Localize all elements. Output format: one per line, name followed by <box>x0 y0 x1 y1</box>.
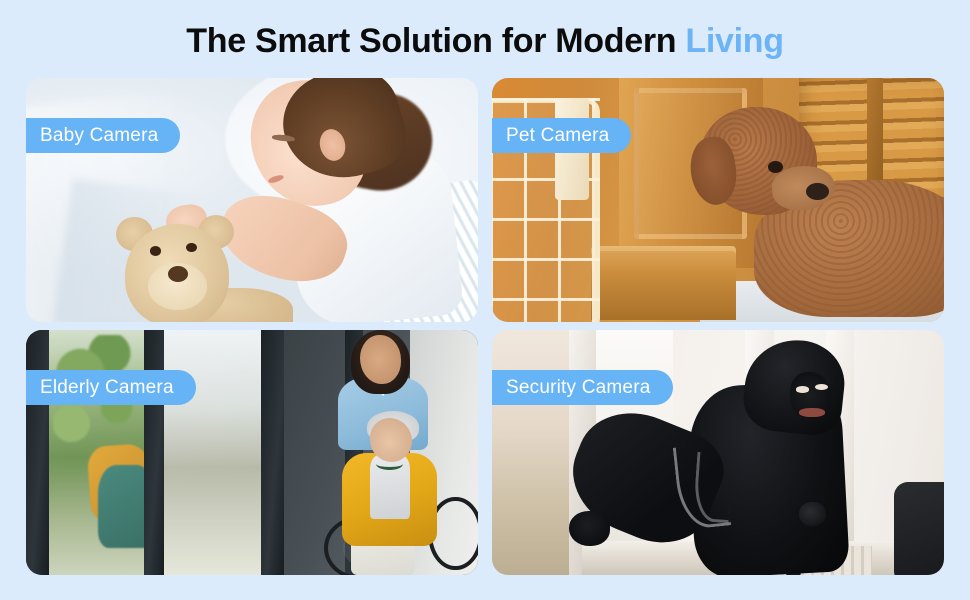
card-security-camera[interactable]: Security Camera <box>492 330 944 575</box>
pet-camera-image <box>492 78 944 322</box>
badge-elderly-camera[interactable]: Elderly Camera <box>26 370 196 405</box>
dog-leg-shape <box>718 263 836 322</box>
intruder-hand-shape <box>569 511 610 545</box>
card-baby-camera[interactable]: Baby Camera <box>26 78 478 322</box>
camera-category-grid: Baby Camera Pet Camera <box>26 78 944 575</box>
card-pet-camera[interactable]: Pet Camera <box>492 78 944 322</box>
elderly-head-shape <box>370 418 413 462</box>
page-title: The Smart Solution for Modern Living <box>0 22 970 61</box>
badge-security-camera[interactable]: Security Camera <box>492 370 673 405</box>
security-camera-image <box>492 330 944 575</box>
baseboard-shape <box>591 246 736 319</box>
teddy-nose-shape <box>168 266 188 282</box>
badge-pet-camera[interactable]: Pet Camera <box>492 118 631 153</box>
baby-camera-image <box>26 78 478 322</box>
dog-nose-shape <box>806 183 829 200</box>
window-mullion-2 <box>144 330 164 575</box>
elderly-camera-image <box>26 330 478 575</box>
page-title-primary-text: The Smart Solution for Modern <box>186 22 685 60</box>
badge-baby-camera[interactable]: Baby Camera <box>26 118 180 153</box>
window-pane-middle <box>162 330 261 575</box>
intruder-left-eye-shape <box>796 386 810 392</box>
office-chair-shape <box>894 482 944 575</box>
intruder-glove-shape <box>799 502 826 527</box>
window-mullion-3 <box>261 330 284 575</box>
window-glass-left <box>492 330 569 575</box>
page-title-accent-text: Living <box>685 22 783 60</box>
window-mullion-1 <box>26 330 49 575</box>
card-elderly-camera[interactable]: Elderly Camera <box>26 330 478 575</box>
caregiver-head-shape <box>360 335 401 384</box>
intruder-mouth-shape <box>799 408 824 416</box>
